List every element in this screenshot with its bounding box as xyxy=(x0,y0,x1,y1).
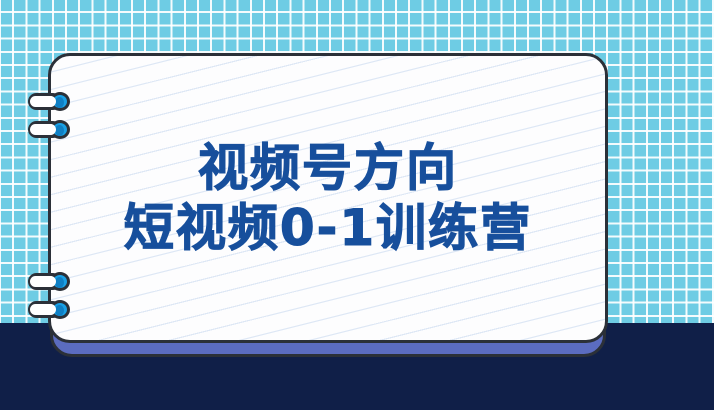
ring-bar-front xyxy=(30,276,56,287)
notebook-card-wrapper: 视频号方向 短视频0-1训练营 xyxy=(48,53,608,357)
course-banner: 视频号方向 短视频0-1训练营 xyxy=(0,0,714,410)
ring-bar-front xyxy=(30,96,56,107)
ring-bar-front xyxy=(30,124,56,135)
binding-ring-icon-3 xyxy=(28,272,74,291)
title-block: 视频号方向 短视频0-1训练营 xyxy=(51,56,605,340)
notebook-card: 视频号方向 短视频0-1训练营 xyxy=(48,53,608,343)
ring-bar-front xyxy=(30,304,56,315)
binding-ring-icon-1 xyxy=(28,92,74,111)
title-line-2: 短视频0-1训练营 xyxy=(124,200,532,256)
title-line-1: 视频号方向 xyxy=(198,140,458,196)
binding-ring-icon-2 xyxy=(28,120,74,139)
binding-ring-icon-4 xyxy=(28,300,74,319)
